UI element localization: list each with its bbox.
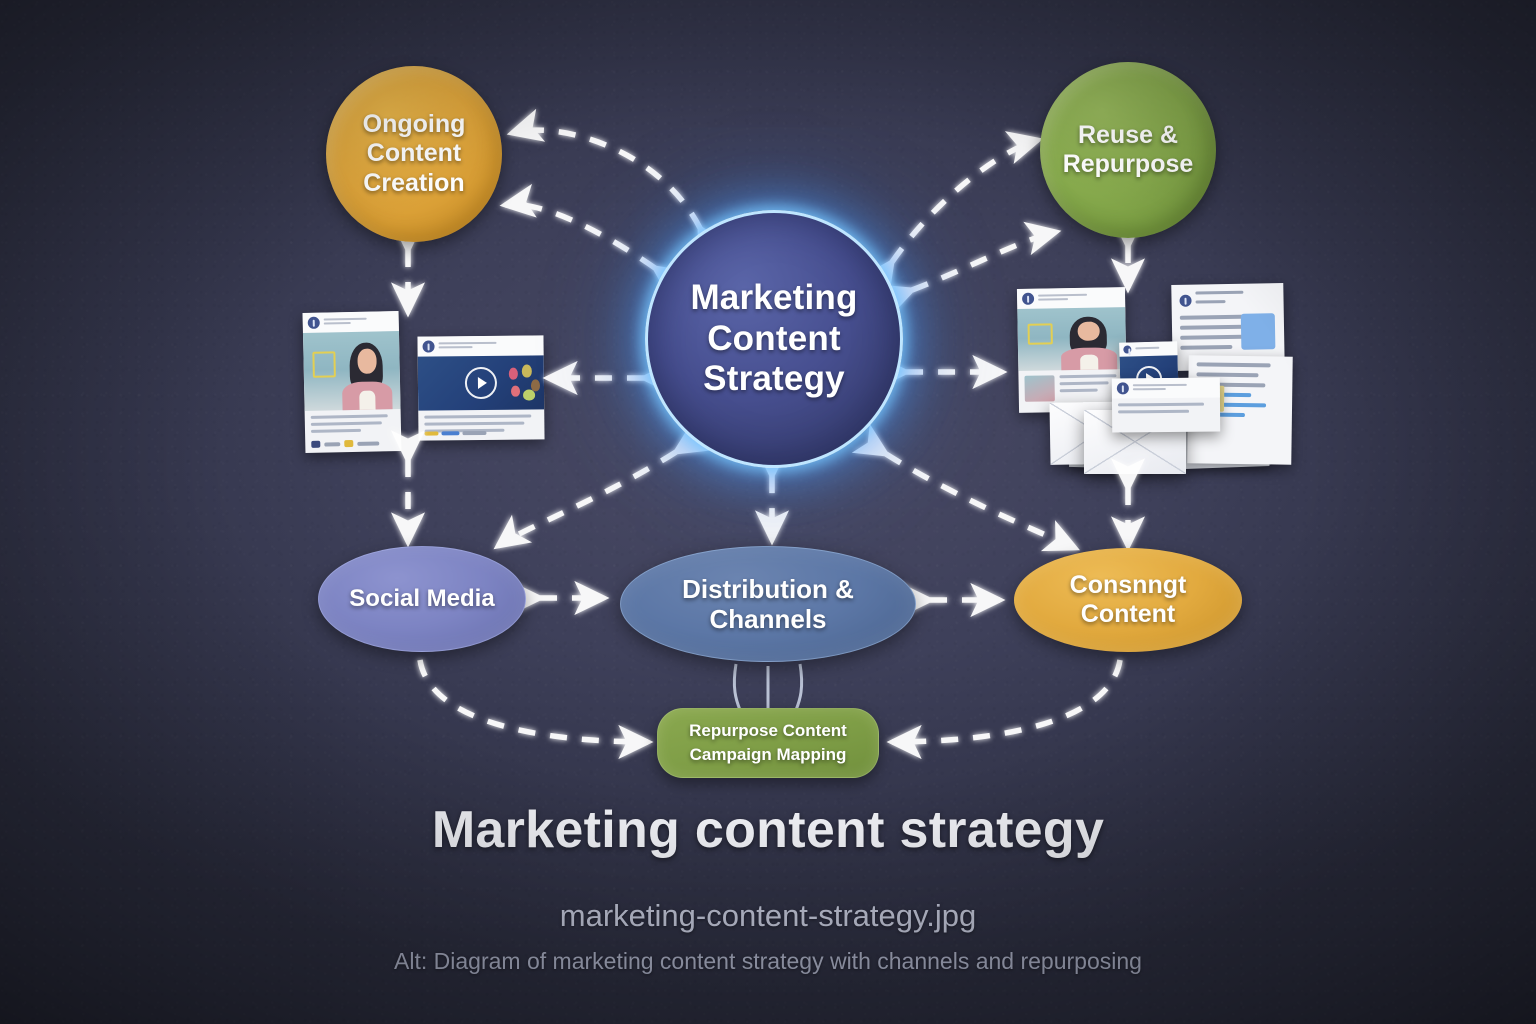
right-media-cluster [1010, 282, 1290, 487]
reaction-count [324, 442, 340, 446]
node-repurpose-content-campaign-mapping[interactable]: Repurpose Content Campaign Mapping [657, 708, 879, 778]
hub-label-line: Content [690, 319, 857, 360]
connector-hub-reuse [892, 140, 1038, 262]
photo-frame [312, 351, 336, 377]
person-shirt [359, 391, 376, 410]
post-reaction-row [311, 439, 379, 447]
node-label-line: Content [1070, 600, 1187, 629]
node-label-line: Channels [682, 604, 854, 634]
video-thumbnail [418, 355, 545, 410]
thumbnail-image [1024, 375, 1054, 402]
card-header [1119, 341, 1177, 357]
card-header [417, 335, 543, 356]
social-post-card [303, 311, 402, 453]
social-post-card [1017, 287, 1127, 413]
post-text-lines [305, 409, 402, 442]
post-photo [303, 331, 401, 411]
node-label: Social Media [349, 585, 494, 613]
avatar-icon [308, 317, 320, 329]
person-face [357, 349, 377, 374]
caption-filename: marketing-content-strategy.jpg [0, 898, 1536, 934]
connector-distribution-repurpose [734, 664, 801, 710]
avatar-icon [1123, 345, 1131, 353]
reaction-bar [424, 431, 438, 435]
video-text-lines [418, 409, 544, 440]
card-header [1112, 378, 1220, 399]
node-distribution-channels[interactable]: Distribution & Channels [620, 546, 916, 662]
avatar-icon [423, 340, 435, 352]
connector-hub-ongoing-2 [505, 204, 655, 268]
connector-hub-social [498, 452, 676, 546]
reaction-bar [441, 431, 459, 435]
node-label-line: Repurpose [1063, 150, 1194, 179]
share-count [357, 441, 379, 445]
avatar-icon [1179, 295, 1191, 307]
hub-label-line: Strategy [690, 359, 857, 400]
node-label-line: Ongoing [363, 110, 466, 139]
post-photo [1017, 307, 1126, 371]
node-label-line: Repurpose Content [689, 719, 847, 743]
header-lines [1133, 384, 1215, 393]
reaction-bar [462, 431, 486, 435]
connector-consistent-repurpose [892, 660, 1120, 742]
video-post-card [417, 335, 544, 440]
node-label-line: Creation [363, 169, 466, 198]
caption-alt-text: Alt: Diagram of marketing content strate… [0, 948, 1536, 975]
doc-header-lines [1195, 290, 1275, 309]
node-label-line: Content [363, 139, 466, 168]
caption-block: Marketing content strategy marketing-con… [0, 800, 1536, 975]
connector-hub-ongoing [512, 130, 700, 228]
node-label-line: Reuse & [1063, 121, 1194, 150]
node-marketing-content-strategy[interactable]: Marketing Content Strategy [645, 210, 903, 468]
doc-image-block [1241, 313, 1276, 350]
node-ongoing-content-creation[interactable]: Ongoing Content Creation [326, 66, 502, 242]
card-header [303, 311, 399, 333]
newsletter-card [1112, 378, 1220, 433]
card-header [1017, 287, 1125, 309]
diagram-canvas: Ongoing Content Creation Reuse & Repurpo… [0, 0, 1536, 1024]
reaction-icon [311, 441, 320, 448]
header-lines [1038, 293, 1120, 302]
header-lines [439, 341, 539, 350]
video-reaction-row [424, 431, 486, 436]
photo-frame [1027, 323, 1053, 345]
left-media-cluster [300, 300, 550, 460]
node-social-media[interactable]: Social Media [318, 546, 526, 652]
newsletter-lines [1112, 398, 1220, 423]
avatar-icon [1117, 382, 1129, 394]
share-icon [344, 440, 353, 447]
node-label-line: Campaign Mapping [689, 743, 847, 767]
caption-title: Marketing content strategy [0, 800, 1536, 860]
node-reuse-repurpose[interactable]: Reuse & Repurpose [1040, 62, 1216, 238]
header-lines [1135, 346, 1173, 351]
play-icon[interactable] [465, 367, 497, 399]
connector-social-repurpose [420, 660, 648, 742]
hub-label-line: Marketing [690, 278, 857, 319]
doc-header [1179, 290, 1275, 310]
node-label-line: Consnngt [1070, 571, 1187, 600]
person-shirt [1080, 355, 1099, 370]
node-label-line: Distribution & [682, 574, 854, 604]
node-consistent-content[interactable]: Consnngt Content [1014, 548, 1242, 652]
header-lines [324, 317, 394, 326]
avatar-icon [1022, 293, 1034, 305]
